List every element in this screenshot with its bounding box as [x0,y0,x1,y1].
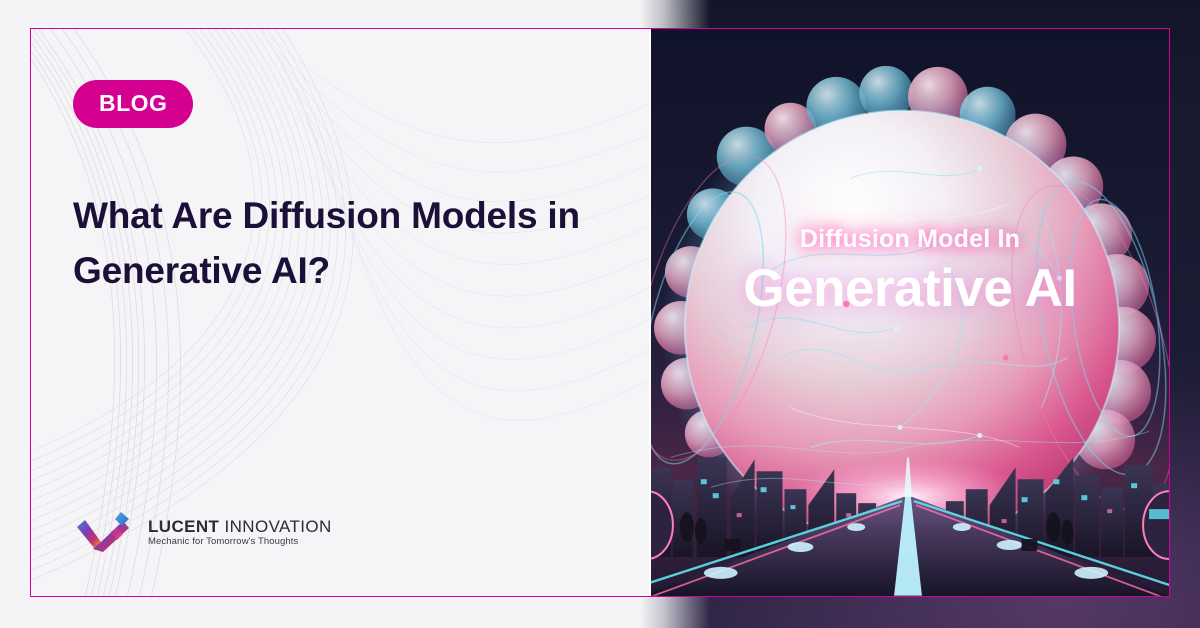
hero-image-pane: Diffusion Model In Generative AI [649,29,1169,596]
brand-logo[interactable]: LUCENT INNOVATION Mechanic for Tomorrow'… [75,509,332,555]
logo-tagline: Mechanic for Tomorrow's Thoughts [148,537,332,547]
overlay-subtitle: Diffusion Model In [661,225,1159,254]
overlay-title: Generative AI [661,258,1159,319]
poster-canvas: BLOG What Are Diffusion Models in Genera… [0,0,1200,628]
logo-name-bold: LUCENT [148,517,219,536]
blog-badge: BLOG [73,80,193,128]
lucent-checkmark-icon [75,509,137,555]
hero-overlay-text: Diffusion Model In Generative AI [651,225,1169,319]
left-content-pane: BLOG What Are Diffusion Models in Genera… [31,29,649,596]
logo-wordmark: LUCENT INNOVATION Mechanic for Tomorrow'… [148,518,332,547]
logo-name-row: LUCENT INNOVATION [148,518,332,535]
page-title: What Are Diffusion Models in Generative … [73,189,633,299]
blog-card: BLOG What Are Diffusion Models in Genera… [30,28,1170,597]
logo-name-light: INNOVATION [224,517,331,536]
